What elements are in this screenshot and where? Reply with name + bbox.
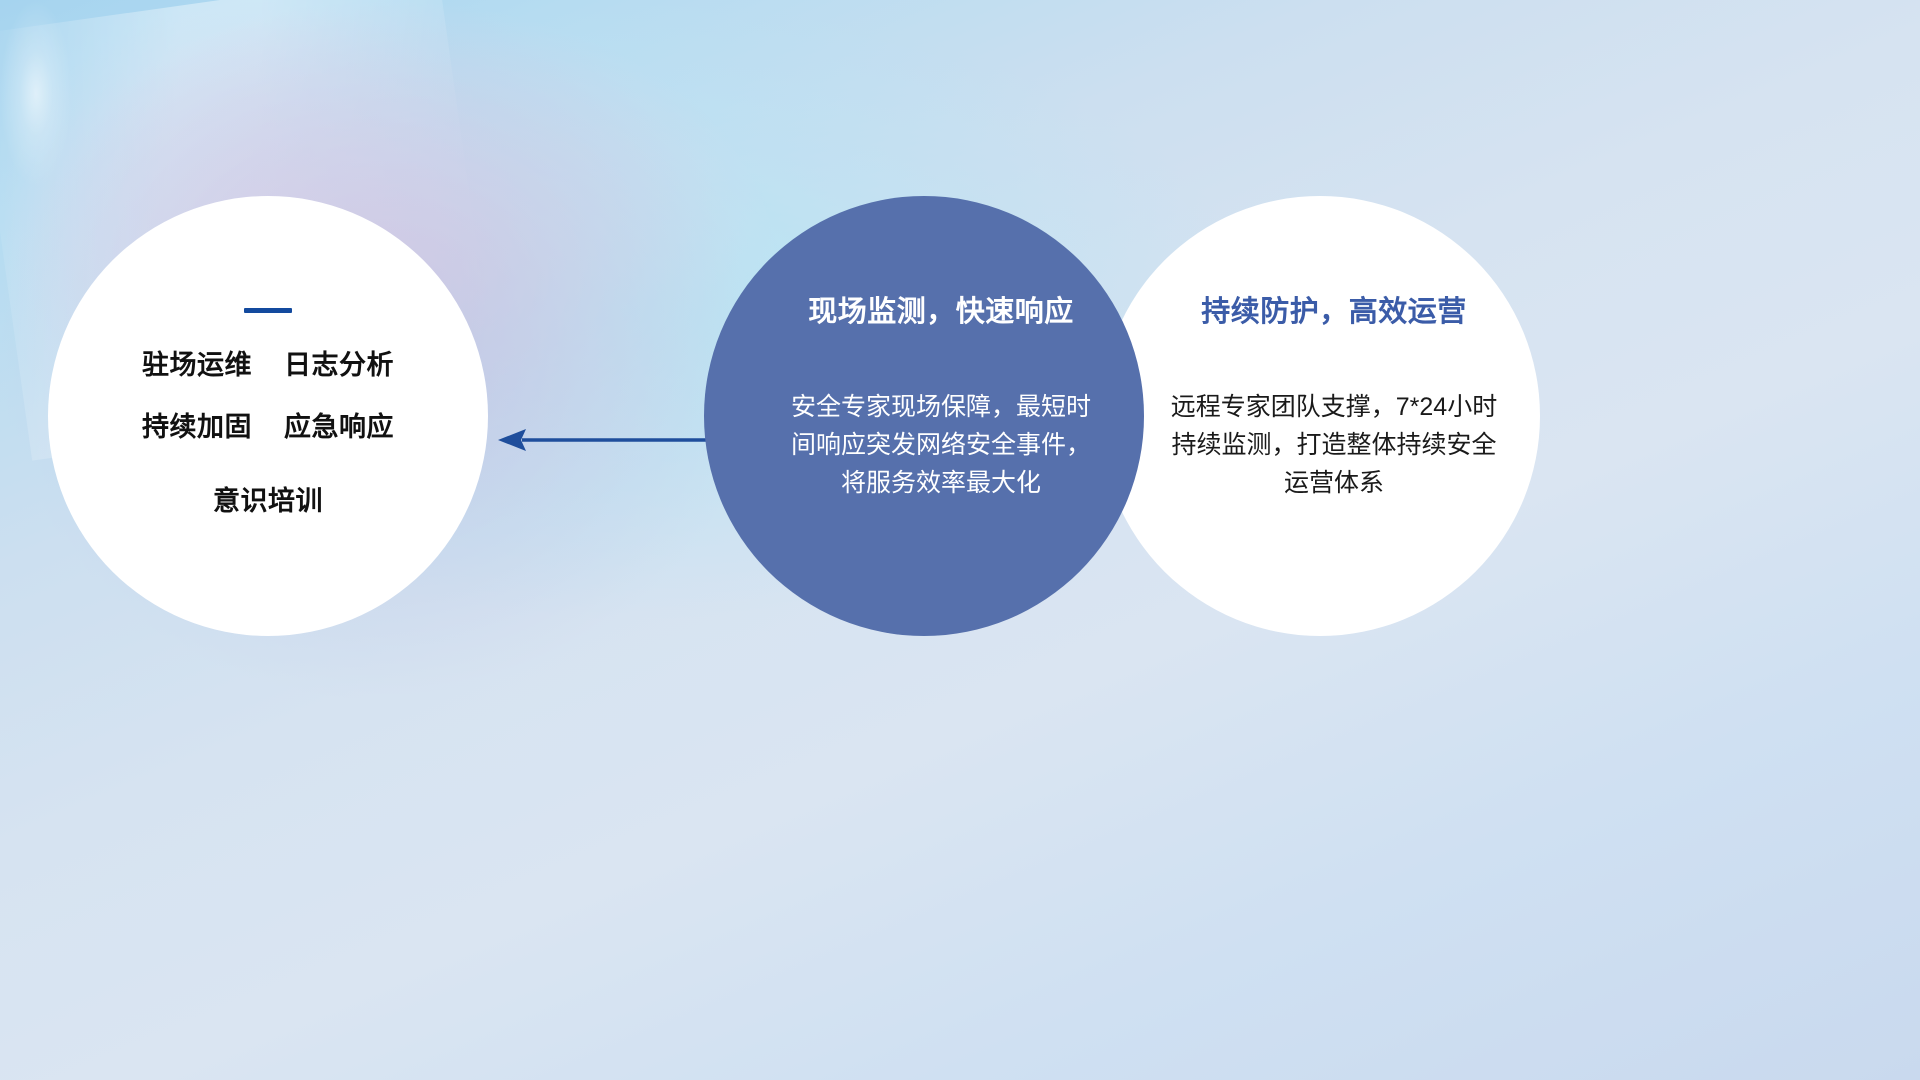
- right-circle-heading: 持续防护，高效运营: [1201, 288, 1467, 330]
- left-circle[interactable]: 驻场运维 日志分析 持续加固 应急响应 意识培训: [48, 196, 488, 636]
- middle-circle-content: 现场监测，快速响应 安全专家现场保障，最短时间响应突发网络安全事件，将服务效率最…: [704, 196, 1144, 502]
- left-circle-line-1: 驻场运维 日志分析: [142, 349, 394, 383]
- slide-canvas: 驻场运维 日志分析 持续加固 应急响应 意识培训 持续防护，高效运营 远程专家团…: [0, 0, 1920, 1080]
- right-circle[interactable]: 持续防护，高效运营 远程专家团队支撑，7*24小时持续监测，打造整体持续安全运营…: [1100, 196, 1540, 636]
- left-circle-content: 驻场运维 日志分析 持续加固 应急响应 意识培训: [48, 196, 488, 518]
- middle-circle[interactable]: 现场监测，快速响应 安全专家现场保障，最短时间响应突发网络安全事件，将服务效率最…: [704, 196, 1144, 636]
- middle-circle-heading: 现场监测，快速响应: [808, 288, 1074, 330]
- left-circle-line-3: 意识培训: [213, 485, 323, 519]
- left-circle-line-2: 持续加固 应急响应: [142, 411, 394, 445]
- middle-circle-body: 安全专家现场保障，最短时间响应突发网络安全事件，将服务效率最大化: [791, 388, 1091, 502]
- accent-dash-divider: [244, 308, 292, 313]
- right-circle-body: 远程专家团队支撑，7*24小时持续监测，打造整体持续安全运营体系: [1165, 388, 1503, 502]
- right-circle-content: 持续防护，高效运营 远程专家团队支撑，7*24小时持续监测，打造整体持续安全运营…: [1100, 196, 1540, 502]
- left-pointing-arrow: [496, 424, 716, 456]
